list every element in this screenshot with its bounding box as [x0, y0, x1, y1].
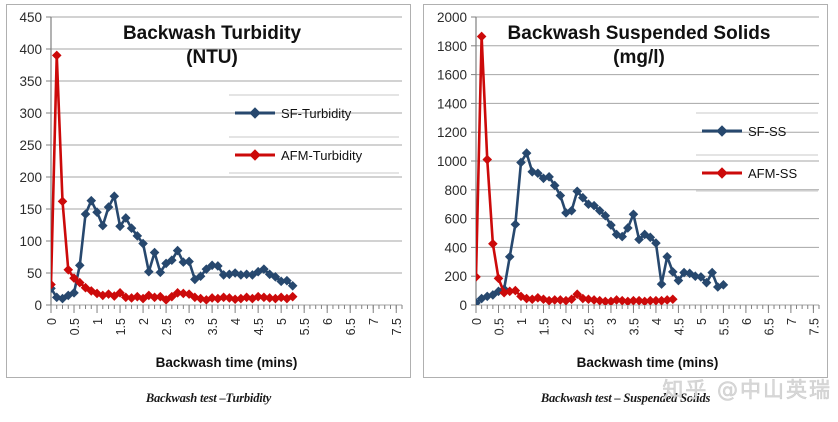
- x-tick-label: 1: [91, 318, 105, 325]
- data-point-marker: [629, 210, 638, 219]
- y-tick-label: 1200: [437, 125, 467, 140]
- y-tick-label: 1600: [437, 68, 467, 83]
- y-tick-label: 800: [444, 183, 467, 198]
- data-point-marker: [185, 257, 194, 266]
- legend-label-sf-ss: SF-SS: [748, 124, 787, 139]
- data-point-marker: [483, 155, 492, 164]
- x-tick-label: 7: [785, 318, 799, 325]
- legend-swatch-marker: [250, 108, 260, 118]
- y-tick-label: 50: [27, 266, 42, 281]
- x-tick-label: 2: [560, 318, 574, 325]
- chart-turbidity: 05010015020025030035040045000.511.522.53…: [7, 5, 410, 377]
- x-tick-label: 3: [183, 318, 197, 325]
- data-point-marker: [98, 221, 107, 230]
- chart-page: 05010015020025030035040045000.511.522.53…: [0, 0, 838, 422]
- legend-swatch-marker: [717, 168, 727, 178]
- data-point-marker: [669, 295, 678, 304]
- data-point-marker: [657, 280, 666, 289]
- caption-turbidity: Backwash test –Turbidity: [6, 391, 411, 406]
- y-tick-label: 2000: [437, 10, 467, 25]
- x-tick-label: 0: [470, 318, 484, 325]
- y-tick-label: 100: [19, 234, 42, 249]
- chart-title-line1: Backwash Turbidity: [123, 23, 302, 44]
- panel-turbidity: 05010015020025030035040045000.511.522.53…: [6, 4, 411, 406]
- y-tick-label: 1400: [437, 96, 467, 111]
- data-point-marker: [511, 220, 520, 229]
- chart-title-line1: Backwash Suspended Solids: [508, 23, 771, 44]
- data-point-marker: [150, 248, 159, 257]
- x-tick-label: 7.5: [390, 318, 404, 335]
- data-point-marker: [494, 274, 503, 283]
- x-tick-label: 2.5: [582, 318, 596, 335]
- x-tick-label: 1.5: [114, 318, 128, 335]
- legend-label-afm-ss: AFM-SS: [748, 166, 797, 181]
- legend: SF-TurbidityAFM-Turbidity: [229, 95, 399, 173]
- y-tick-label: 200: [444, 269, 467, 284]
- y-tick-label: 250: [19, 138, 42, 153]
- x-tick-label: 6.5: [762, 318, 776, 335]
- x-axis-label: Backwash time (mins): [577, 355, 719, 370]
- x-tick-label: 5: [695, 318, 709, 325]
- y-tick-label: 400: [444, 240, 467, 255]
- legend: SF-SSAFM-SS: [696, 113, 818, 191]
- x-tick-label: 5.5: [717, 318, 731, 335]
- x-tick-label: 2: [137, 318, 151, 325]
- x-tick-label: 4.5: [252, 318, 266, 335]
- x-tick-label: 5: [275, 318, 289, 325]
- legend-swatch-marker: [717, 126, 727, 136]
- chart-suspended-solids: 020040060080010001200140016001800200000.…: [424, 5, 827, 377]
- data-point-marker: [489, 240, 498, 249]
- data-point-marker: [75, 261, 84, 270]
- x-tick-label: 6: [740, 318, 754, 325]
- chart-panels: 05010015020025030035040045000.511.522.53…: [0, 0, 838, 406]
- data-point-marker: [505, 252, 514, 261]
- x-tick-label: 6.5: [344, 318, 358, 335]
- x-tick-label: 0.5: [68, 318, 82, 335]
- x-tick-label: 7.5: [807, 318, 821, 335]
- data-point-marker: [87, 196, 96, 205]
- x-tick-label: 4: [229, 318, 243, 325]
- x-tick-label: 7: [367, 318, 381, 325]
- data-point-marker: [477, 32, 486, 41]
- legend-label-sf-turbidity: SF-Turbidity: [281, 106, 352, 121]
- y-tick-label: 600: [444, 212, 467, 227]
- series-line-afm-ss: [476, 36, 673, 301]
- x-axis-label: Backwash time (mins): [156, 355, 298, 370]
- x-tick-label: 3: [605, 318, 619, 325]
- x-tick-label: 3.5: [206, 318, 220, 335]
- data-point-marker: [58, 197, 67, 206]
- legend-swatch-marker: [250, 150, 260, 160]
- x-tick-label: 0: [45, 318, 59, 325]
- panel-suspended-solids: 020040060080010001200140016001800200000.…: [423, 4, 828, 406]
- x-tick-label: 3.5: [627, 318, 641, 335]
- y-tick-label: 450: [19, 10, 42, 25]
- y-tick-label: 1800: [437, 39, 467, 54]
- y-tick-label: 300: [19, 106, 42, 121]
- chart-title-line2: (NTU): [186, 47, 238, 68]
- data-point-marker: [81, 210, 90, 219]
- y-tick-label: 0: [459, 298, 467, 313]
- y-tick-label: 350: [19, 74, 42, 89]
- caption-suspended-solids: Backwash test – Suspended Solids: [423, 391, 828, 406]
- x-tick-label: 5.5: [298, 318, 312, 335]
- y-tick-label: 0: [34, 298, 42, 313]
- y-tick-label: 400: [19, 42, 42, 57]
- x-tick-label: 1: [515, 318, 529, 325]
- x-tick-label: 6: [321, 318, 335, 325]
- y-tick-label: 1000: [437, 154, 467, 169]
- y-tick-label: 200: [19, 170, 42, 185]
- chart-container-turbidity: 05010015020025030035040045000.511.522.53…: [6, 4, 411, 378]
- data-point-marker: [472, 273, 481, 282]
- chart-container-suspended-solids: 020040060080010001200140016001800200000.…: [423, 4, 828, 378]
- y-tick-label: 150: [19, 202, 42, 217]
- data-point-marker: [145, 267, 154, 276]
- x-tick-label: 4.5: [672, 318, 686, 335]
- chart-title-line2: (mg/l): [613, 47, 665, 68]
- x-tick-label: 4: [650, 318, 664, 325]
- x-tick-label: 1.5: [537, 318, 551, 335]
- data-point-marker: [52, 51, 61, 60]
- series-line-sf-ss: [476, 153, 723, 303]
- x-tick-label: 2.5: [160, 318, 174, 335]
- x-tick-label: 0.5: [492, 318, 506, 335]
- data-point-marker: [663, 252, 672, 261]
- legend-label-afm-turbidity: AFM-Turbidity: [281, 148, 363, 163]
